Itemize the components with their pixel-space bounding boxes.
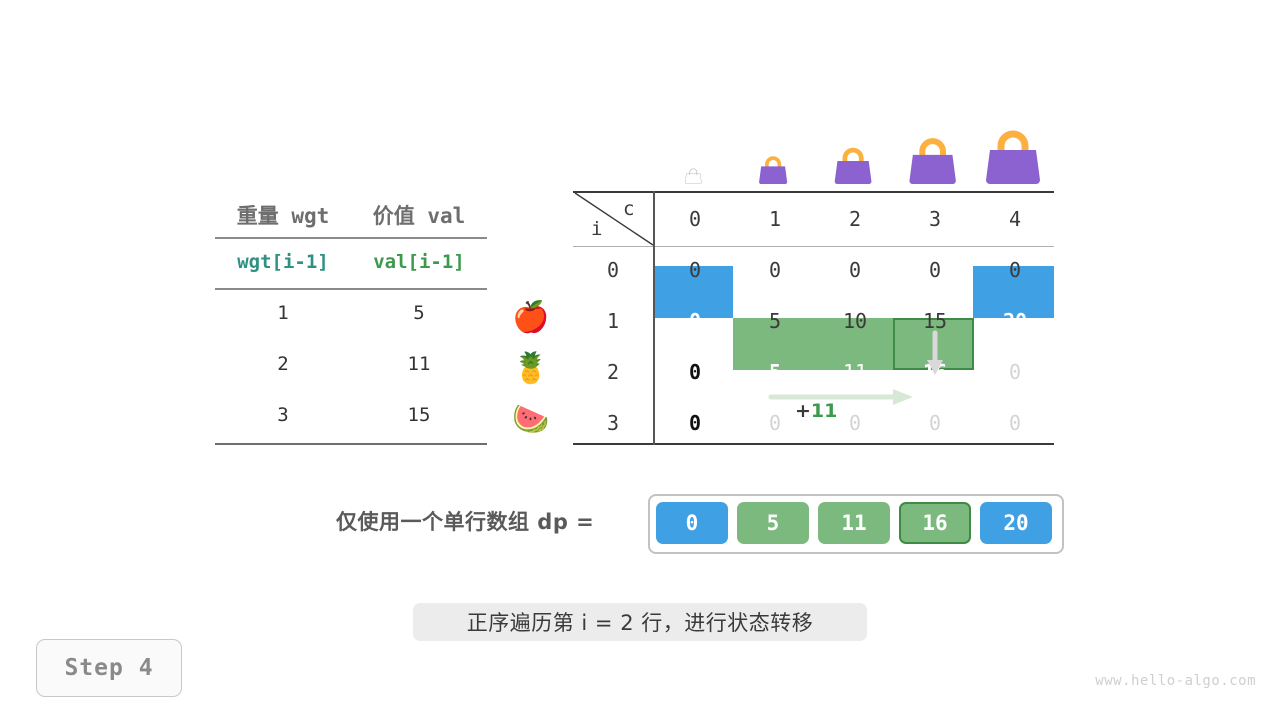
dp-array-cell-4: 20 [980,502,1052,544]
dp-rule-bottom [573,443,1054,445]
dp-cell-1-0: 0 [655,309,735,333]
bag-icon-empty [653,122,733,184]
step-badge: Step 4 [36,639,182,697]
dp-cell-1-1: 5 [735,309,815,333]
bag-icon-1 [733,122,813,184]
caption-banner: 正序遍历第 i = 2 行，进行状态转移 [413,603,867,641]
watermark: www.hello-algo.com [1095,673,1256,689]
dp-array-box: 0 5 11 16 20 [648,494,1064,554]
dp-axis-label-c: c [623,198,634,220]
dp-row-header-2: 2 [573,360,653,384]
items-cell-wgt-3: 3 [215,404,351,426]
dp-corner-diagonal-icon [573,191,655,247]
pineapple-icon: 🍍 [505,354,557,384]
dp-cell-3-0: 0 [655,411,735,435]
dp-cell-3-4: 0 [975,411,1055,435]
dp-cell-2-0: 0 [655,360,735,384]
dp-array-cell-1: 5 [737,502,809,544]
items-header-weight: 重量 wgt [215,200,351,230]
items-cell-wgt-1: 1 [215,302,351,324]
dp-col-header-3: 3 [895,207,975,231]
dp-row-header-0: 0 [573,258,653,282]
items-cell-val-2: 11 [351,353,487,375]
dp-array-cell-2: 11 [818,502,890,544]
items-header-value: 价值 val [351,200,487,230]
dp-col-header-4: 4 [975,207,1055,231]
dp-array-cell-3: 16 [899,502,971,544]
slide-canvas: 重量 wgt 价值 val wgt[i-1] val[i-1] 1 5 2 11… [0,0,1280,720]
dp-array-cell-0: 0 [656,502,728,544]
apple-icon: 🍎 [505,303,557,333]
arrow-right-icon [767,387,917,407]
dp-axis-label-i: i [591,218,602,240]
dp-cell-2-2: 11 [815,360,895,384]
items-cell-wgt-2: 2 [215,353,351,375]
arrow-down-icon [925,331,945,379]
dp-cell-0-1: 0 [735,258,815,282]
bag-icon-2-glyph [832,146,874,184]
items-cell-val-3: 15 [351,404,487,426]
dp-row-header-3: 3 [573,411,653,435]
dp-col-header-0: 0 [655,207,735,231]
dp-cell-0-3: 0 [895,258,975,282]
dp-cell-0-0: 0 [655,258,735,282]
bag-icon-3-glyph [906,136,959,184]
dp-cell-3-3: 0 [895,411,975,435]
dp-cell-2-4: 0 [975,360,1055,384]
items-table-rule-top [215,237,487,239]
dp-row-header-1: 1 [573,309,653,333]
watermelon-icon: 🍉 [505,405,557,435]
bag-icon-4-glyph [982,128,1044,184]
delta-plus-sign: + [795,400,811,422]
dp-cell-0-2: 0 [815,258,895,282]
dp-matrix: i c 0 1 2 3 4 0 1 2 3 0 0 0 0 0 0 5 10 1… [573,191,1054,445]
bag-icon-2 [813,122,893,184]
items-table-rule-mid [215,288,487,290]
dp-col-header-2: 2 [815,207,895,231]
transition-delta-label: +11 [795,400,837,422]
items-cell-val-1: 5 [351,302,487,324]
bag-icon-empty-glyph [684,167,703,184]
bag-icon-1-glyph [757,155,789,184]
dp-cell-0-4: 0 [975,258,1055,282]
dp-col-header-1: 1 [735,207,815,231]
items-table-rule-bottom [215,443,487,445]
items-subheader-val: val[i-1] [351,251,487,273]
bag-icon-4 [973,122,1053,184]
dp-cell-1-4: 20 [975,309,1055,333]
dp-array-label: 仅使用一个单行数组 dp = [336,506,594,536]
dp-cell-1-2: 10 [815,309,895,333]
dp-cell-1-3: 15 [895,309,975,333]
dp-cell-2-1: 5 [735,360,815,384]
bag-icon-3 [893,122,973,184]
items-subheader-wgt: wgt[i-1] [215,251,351,273]
delta-value: 11 [811,400,837,422]
